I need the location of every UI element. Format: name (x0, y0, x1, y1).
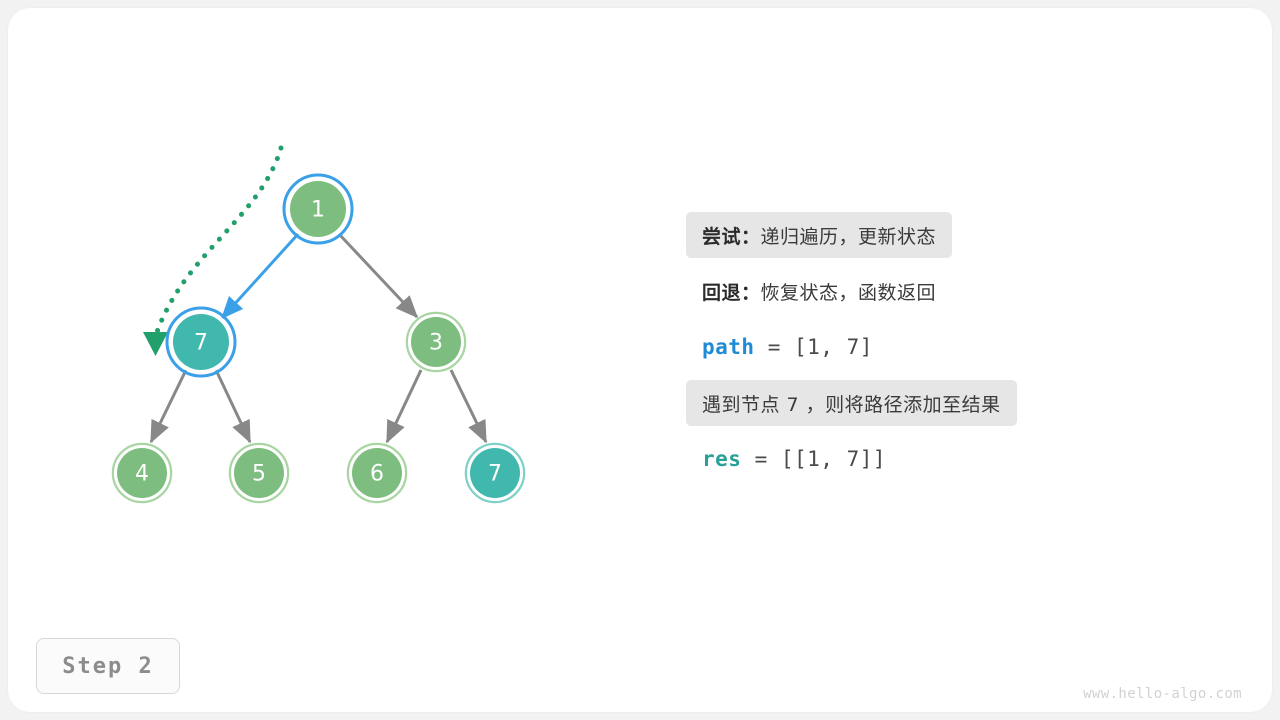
tree-node-4[interactable]: 4 (113, 444, 171, 502)
tree-node-7-left[interactable]: 7 (167, 308, 235, 376)
res-wrap: res = [[1, 7]] (686, 436, 902, 482)
found-node-text: 遇到节点 7 ，则将路径添加至结果 (702, 390, 1001, 417)
node-4-label: 4 (135, 462, 149, 487)
backtrack-wrap: 回退： 恢复状态，函数返回 (686, 268, 952, 314)
path-line: path = [1, 7] (686, 324, 1226, 370)
found-node-line: 遇到节点 7 ，则将路径添加至结果 (686, 380, 1226, 426)
try-text: 递归遍历，更新状态 (761, 222, 937, 249)
node-7-left-label: 7 (194, 331, 208, 356)
res-value: = [[1, 7]] (741, 447, 886, 471)
annotation-panel: 尝试： 递归遍历，更新状态 回退： 恢复状态，函数返回 path = [1, 7… (686, 212, 1226, 492)
tree-node-6[interactable]: 6 (348, 444, 406, 502)
try-prefix: 尝试： (702, 222, 761, 249)
path-variable-name: path (702, 335, 755, 359)
backtrack-prefix: 回退： (702, 278, 761, 305)
try-chip: 尝试： 递归遍历，更新状态 (686, 212, 952, 258)
edge-7-to-5 (216, 370, 250, 442)
edge-7-to-4 (151, 370, 186, 442)
step-badge-label: Step 2 (62, 654, 153, 679)
path-wrap: path = [1, 7] (686, 324, 889, 370)
node-3-label: 3 (429, 331, 443, 356)
traversal-arrowhead-icon (143, 332, 168, 356)
found-node-chip: 遇到节点 7 ，则将路径添加至结果 (686, 380, 1017, 426)
tree-node-7-right[interactable]: 7 (466, 444, 524, 502)
node-1-label: 1 (311, 198, 325, 223)
try-line: 尝试： 递归遍历，更新状态 (686, 212, 1226, 258)
tree-node-1[interactable]: 1 (284, 175, 352, 243)
node-7-right-label: 7 (488, 462, 502, 487)
watermark: www.hello-algo.com (1083, 686, 1242, 702)
edge-3-to-7 (451, 370, 486, 442)
res-variable-name: res (702, 447, 741, 471)
edge-1-to-3 (339, 234, 417, 317)
backtrack-line: 回退： 恢复状态，函数返回 (686, 268, 1226, 314)
edge-3-to-6 (387, 370, 421, 442)
backtrack-text: 恢复状态，函数返回 (761, 278, 937, 305)
tree-node-5[interactable]: 5 (230, 444, 288, 502)
step-badge: Step 2 (36, 638, 180, 694)
dotted-traversal-path (157, 148, 281, 332)
res-line: res = [[1, 7]] (686, 436, 1226, 482)
node-6-label: 6 (370, 462, 384, 487)
node-5-label: 5 (252, 462, 266, 487)
path-value: = [1, 7] (755, 335, 873, 359)
edge-1-to-7 (222, 233, 299, 318)
tree-node-3[interactable]: 3 (407, 313, 465, 371)
tree-nodes: 1 7 3 4 (113, 175, 524, 502)
diagram-canvas: 1 7 3 4 (0, 0, 1280, 720)
